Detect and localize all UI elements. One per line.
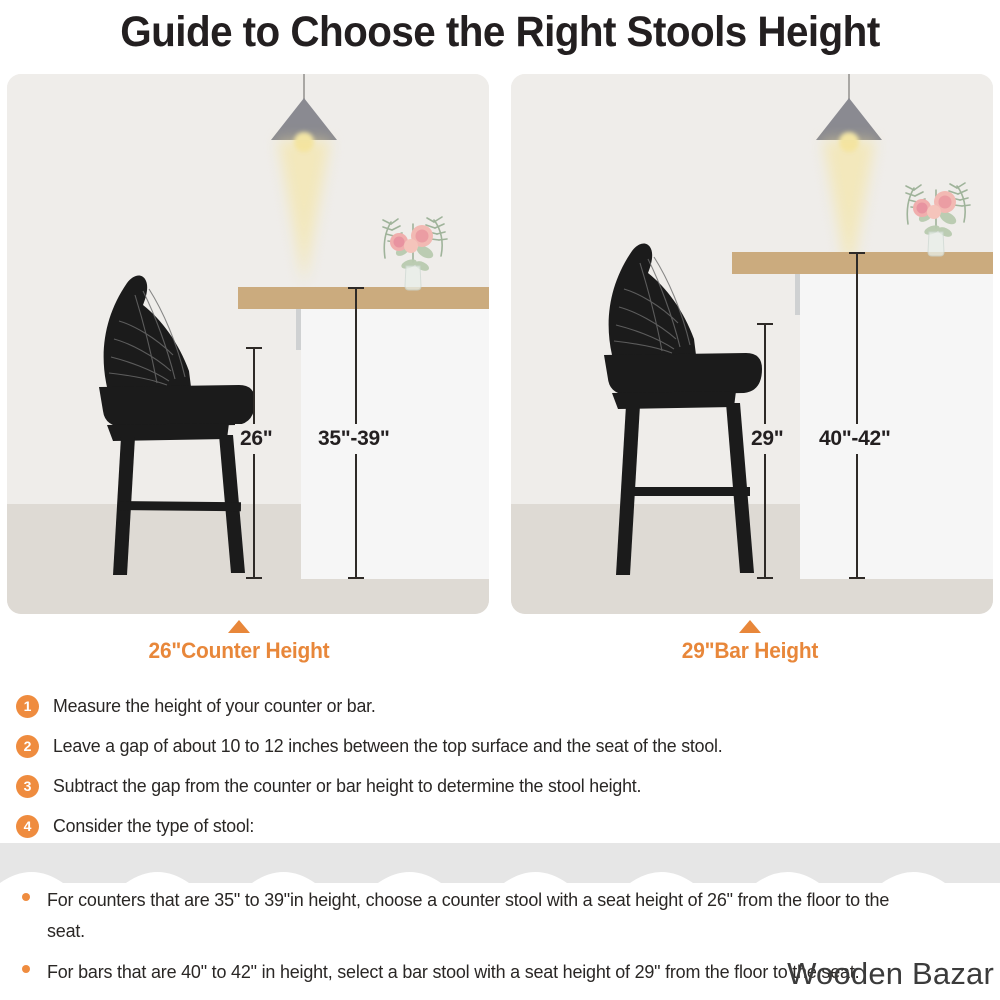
flower-vase <box>888 162 984 258</box>
bullet-text-1: For counters that are 35" to 39"in heigh… <box>47 884 901 946</box>
counter-panel: 26" 35"-39" <box>7 74 489 614</box>
step-text-4: Consider the type of stool: <box>53 815 254 837</box>
step-badge-3: 3 <box>16 775 39 798</box>
page-title: Guide to Choose the Right Stools Height <box>30 8 970 57</box>
stool-height-label: 29" <box>746 424 788 454</box>
caption-arrow-icon <box>228 620 250 633</box>
stool-height-label: 26" <box>235 424 277 454</box>
bar-stool <box>574 229 779 589</box>
bullet-dot-icon <box>22 893 30 901</box>
list-item: 4 Consider the type of stool: <box>16 806 976 846</box>
bar-height-dimension-line <box>856 252 858 579</box>
list-item: For counters that are 35" to 39"in heigh… <box>22 884 982 946</box>
list-item: 1 Measure the height of your counter or … <box>16 686 976 726</box>
caption-text: 29"Bar Height <box>608 638 893 664</box>
step-badge-2: 2 <box>16 735 39 758</box>
step-badge-4: 4 <box>16 815 39 838</box>
watermark: Wooden Bazar <box>787 956 994 992</box>
pendant-light-glow <box>278 140 330 285</box>
caption-arrow-icon <box>739 620 761 633</box>
counter-height-label: 35"-39" <box>313 424 395 454</box>
step-badge-1: 1 <box>16 695 39 718</box>
step-text-3: Subtract the gap from the counter or bar… <box>53 775 641 797</box>
list-item: 2 Leave a gap of about 10 to 12 inches b… <box>16 726 976 766</box>
step-text-1: Measure the height of your counter or ba… <box>53 695 376 717</box>
steps-list: 1 Measure the height of your counter or … <box>16 686 976 846</box>
pendant-cord <box>848 74 850 100</box>
bar-height-label: 40"-42" <box>814 424 896 454</box>
bar-height-caption: 29"Bar Height <box>600 620 900 664</box>
caption-text: 26"Counter Height <box>97 638 382 664</box>
infographic-page: Guide to Choose the Right Stools Height <box>0 0 1000 1000</box>
bar-panel: 29" 40"-42" <box>511 74 993 614</box>
list-item: 3 Subtract the gap from the counter or b… <box>16 766 976 806</box>
stool-height-dimension-line <box>253 347 255 579</box>
bullet-text-2: For bars that are 40" to 42" in height, … <box>47 956 859 987</box>
counter-height-caption: 26"Counter Height <box>89 620 389 664</box>
flower-vase <box>365 196 461 292</box>
step-text-2: Leave a gap of about 10 to 12 inches bet… <box>53 735 723 757</box>
pendant-cord <box>303 74 305 100</box>
bullet-dot-icon <box>22 965 30 973</box>
illustration-panels: 26" 35"-39" <box>7 74 993 614</box>
